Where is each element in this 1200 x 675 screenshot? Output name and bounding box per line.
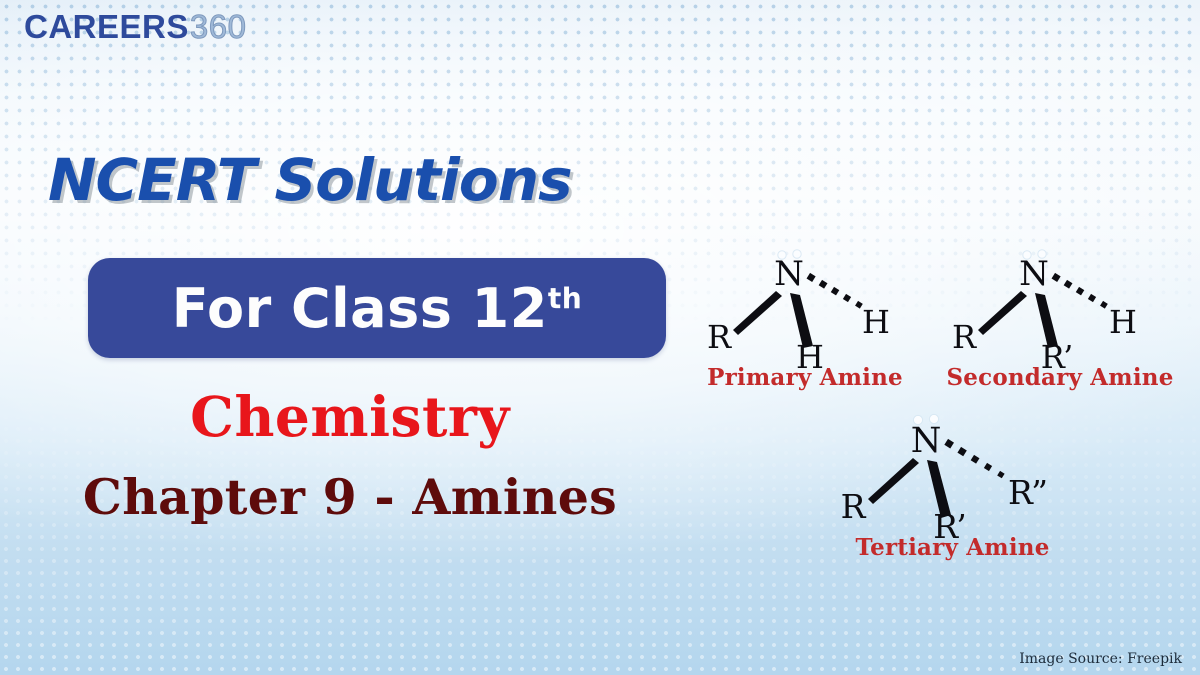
molecule-label-tertiary: Tertiary Amine [820,534,1085,561]
molecule-label-secondary: Secondary Amine [935,364,1185,391]
substituent-right-label: R” [1008,473,1048,512]
secondary-amine-structure: N R R’ H [935,243,1185,368]
substituent-right-label: H [1109,303,1137,341]
molecule-primary-amine: N R H H Primary Amine [690,243,920,391]
bond-dashed-right [1052,273,1108,309]
atom-nitrogen: N [1019,254,1049,294]
bond-plain-left [733,291,782,335]
class-badge-label: For Class 12th [172,277,582,340]
atom-nitrogen: N [911,421,942,461]
molecule-label-primary: Primary Amine [690,364,920,391]
substituent-left-label: R [952,318,977,356]
class-badge-suffix: th [548,282,582,315]
bond-plain-left [978,291,1027,335]
molecule-secondary-amine: N R R’ H Secondary Amine [935,243,1185,391]
class-badge: For Class 12th [88,258,666,358]
substituent-left-label: R [707,318,732,356]
title-column: NCERT Solutions For Class 12th Chemistry… [0,0,700,675]
atom-nitrogen: N [774,254,804,294]
primary-amine-structure: N R H H [690,243,920,368]
poster-canvas: CAREERS 360 NCERT Solutions For Class 12… [0,0,1200,675]
substituent-right-label: H [862,303,890,341]
bond-dashed-right [944,439,1004,478]
chapter-title: Chapter 9 - Amines [0,468,700,526]
bond-plain-left [868,458,919,504]
bond-dashed-right [807,273,863,309]
class-badge-prefix: For Class 12 [172,277,548,340]
tertiary-amine-structure: N R R’ R” [820,408,1085,538]
image-source-credit: Image Source: Freepik [1019,651,1182,667]
molecule-tertiary-amine: N R R’ R” Tertiary Amine [820,408,1085,561]
page-title: NCERT Solutions [48,146,572,214]
substituent-left-label: R [841,487,867,526]
subject-title: Chemistry [0,384,700,449]
